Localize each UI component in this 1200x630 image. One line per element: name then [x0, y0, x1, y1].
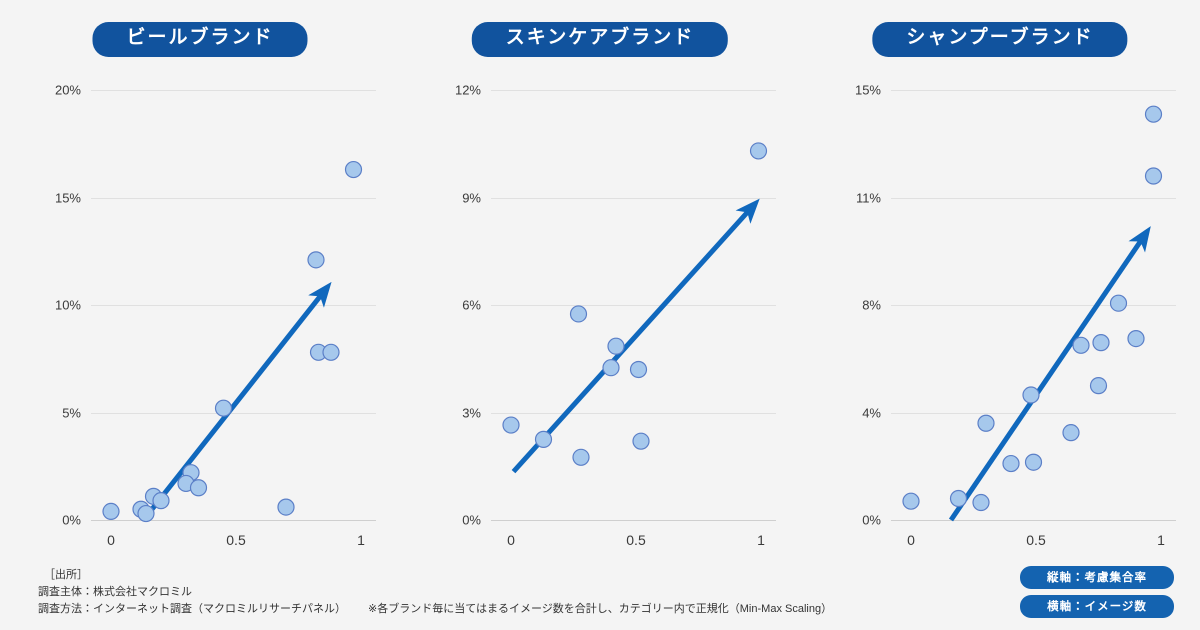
chart-panel-shampoo: シャンプーブランド 0%4%8%11%15%00.51	[800, 0, 1200, 560]
data-point-shampoo-0	[903, 493, 919, 509]
source-method-row: 調査方法：インターネット調査（マクロミルリサーチパネル）※各ブランド毎に当てはま…	[38, 601, 832, 618]
chart-panel-beer: ビールブランド 0%5%10%15%20%00.51	[0, 0, 400, 560]
data-point-skincare-6	[631, 362, 647, 378]
data-point-beer-8	[216, 400, 232, 416]
data-point-shampoo-12	[1128, 331, 1144, 347]
data-point-beer-11	[323, 344, 339, 360]
data-point-shampoo-5	[1026, 454, 1042, 470]
data-point-shampoo-4	[1003, 456, 1019, 472]
source-footer: ［出所］ 調査主体：株式会社マクロミル 調査方法：インターネット調査（マクロミル…	[38, 567, 832, 618]
data-point-shampoo-1	[951, 491, 967, 507]
data-point-beer-4	[153, 493, 169, 509]
data-point-beer-13	[346, 162, 362, 178]
data-point-skincare-4	[603, 360, 619, 376]
plot-canvas-skincare	[400, 0, 800, 560]
data-point-shampoo-11	[1111, 295, 1127, 311]
data-point-shampoo-10	[1093, 335, 1109, 351]
data-point-shampoo-14	[1146, 106, 1162, 122]
source-subject: 調査主体：株式会社マクロミル	[38, 584, 832, 601]
data-point-skincare-0	[503, 417, 519, 433]
data-point-skincare-8	[751, 143, 767, 159]
axis-legend: 縦軸：考慮集合率 横軸：イメージ数	[1020, 566, 1174, 618]
plot-canvas-beer	[0, 0, 400, 560]
trend-arrow-shampoo	[951, 237, 1144, 520]
data-point-shampoo-2	[973, 495, 989, 511]
data-point-shampoo-6	[1023, 387, 1039, 403]
plot-canvas-shampoo	[800, 0, 1200, 560]
data-point-shampoo-9	[1091, 378, 1107, 394]
data-point-beer-2	[138, 506, 154, 522]
data-point-skincare-7	[633, 433, 649, 449]
data-point-shampoo-7	[1063, 425, 1079, 441]
scatter-plot-beer: 0%5%10%15%20%00.51	[0, 0, 400, 560]
source-note: ※各ブランド毎に当てはまるイメージ数を合計し、カテゴリー内で正規化（Min-Ma…	[368, 603, 832, 615]
scatter-plot-skincare: 0%3%6%9%12%00.51	[400, 0, 800, 560]
source-heading: ［出所］	[38, 567, 832, 584]
data-point-beer-7	[191, 480, 207, 496]
infographic-page: ビールブランド 0%5%10%15%20%00.51 スキンケアブランド 0%3…	[0, 0, 1200, 630]
data-point-skincare-3	[573, 449, 589, 465]
data-point-shampoo-3	[978, 415, 994, 431]
data-point-skincare-1	[536, 431, 552, 447]
scatter-plot-shampoo: 0%4%8%11%15%00.51	[800, 0, 1200, 560]
source-method: 調査方法：インターネット調査（マクロミルリサーチパネル）	[38, 603, 346, 615]
data-point-beer-0	[103, 503, 119, 519]
chart-panel-skincare: スキンケアブランド 0%3%6%9%12%00.51	[400, 0, 800, 560]
data-point-skincare-5	[608, 338, 624, 354]
trend-arrow-beer	[144, 292, 324, 520]
data-point-shampoo-8	[1073, 337, 1089, 353]
data-point-beer-9	[278, 499, 294, 515]
data-point-shampoo-13	[1146, 168, 1162, 184]
legend-badge-x-axis: 横軸：イメージ数	[1020, 595, 1174, 618]
trend-arrow-skincare	[514, 208, 752, 471]
data-point-beer-12	[308, 252, 324, 268]
data-point-skincare-2	[571, 306, 587, 322]
legend-badge-y-axis: 縦軸：考慮集合率	[1020, 566, 1174, 589]
charts-row: ビールブランド 0%5%10%15%20%00.51 スキンケアブランド 0%3…	[0, 0, 1200, 560]
